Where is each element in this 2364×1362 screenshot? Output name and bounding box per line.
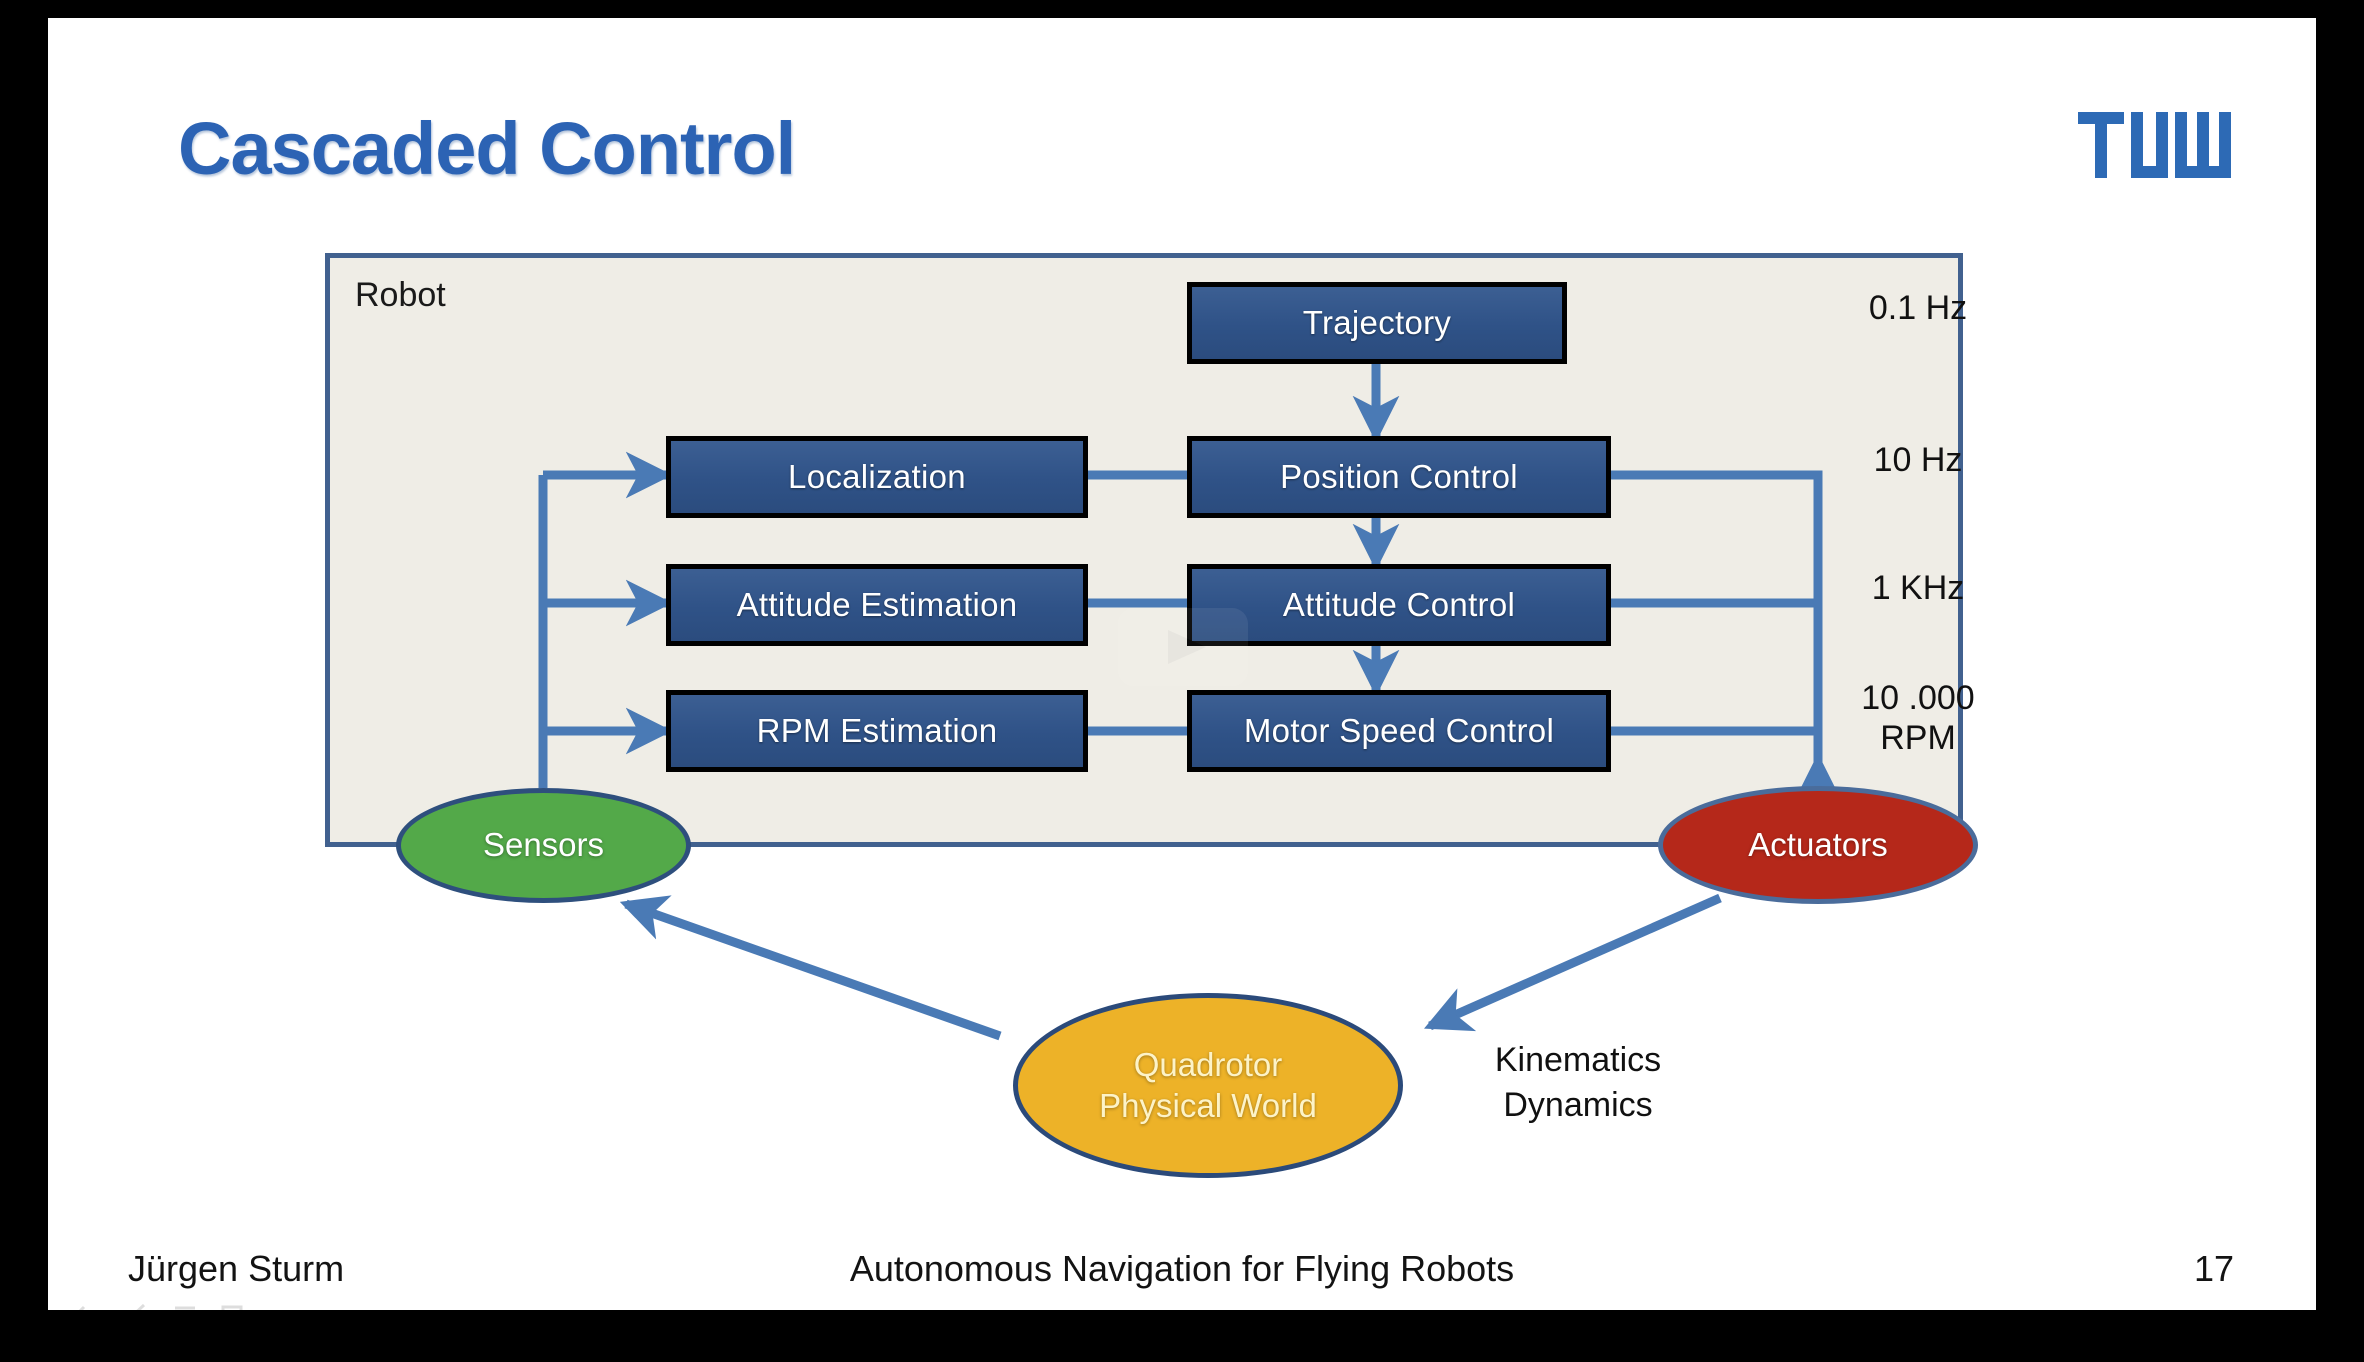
node-label: Position Control — [1280, 458, 1518, 496]
slide-canvas: Cascaded Control Robot — [48, 18, 2316, 1310]
node-label: Quadrotor Physical World — [1099, 1045, 1317, 1126]
play-overlay-ghost-icon — [1118, 608, 1248, 686]
node-label: Actuators — [1748, 825, 1887, 865]
node-label: Localization — [788, 458, 966, 496]
wire-quadrotor-to-sensors — [626, 904, 1000, 1036]
node-sensors[interactable]: Sensors — [396, 788, 691, 903]
pen-icon[interactable] — [124, 1302, 150, 1310]
rate-label-position: 10 Hz — [1818, 440, 2018, 480]
node-label: Attitude Estimation — [737, 586, 1018, 624]
laser-pointer-icon[interactable] — [220, 1302, 246, 1310]
node-label: Trajectory — [1303, 304, 1451, 342]
node-label: Motor Speed Control — [1244, 712, 1554, 750]
node-position-control[interactable]: Position Control — [1187, 436, 1611, 518]
presenter-toolbar[interactable] — [76, 1302, 246, 1310]
node-rpm-estimation[interactable]: RPM Estimation — [666, 690, 1088, 772]
node-actuators[interactable]: Actuators — [1658, 786, 1978, 904]
node-trajectory[interactable]: Trajectory — [1187, 282, 1567, 364]
node-label: RPM Estimation — [757, 712, 998, 750]
tum-logo-icon — [2076, 106, 2252, 184]
node-label: Sensors — [483, 825, 604, 865]
node-localization[interactable]: Localization — [666, 436, 1088, 518]
rate-label-trajectory: 0.1 Hz — [1818, 288, 2018, 328]
footer-course-title: Autonomous Navigation for Flying Robots — [48, 1248, 2316, 1290]
pointer-arrow-icon[interactable] — [76, 1302, 102, 1310]
node-quadrotor-physical-world[interactable]: Quadrotor Physical World — [1013, 993, 1403, 1178]
wire-actuators-to-quadrotor — [1430, 898, 1720, 1026]
robot-container-label: Robot — [355, 276, 446, 315]
rate-label-attitude: 1 KHz — [1818, 568, 2018, 608]
node-label: Attitude Control — [1283, 586, 1515, 624]
node-attitude-estimation[interactable]: Attitude Estimation — [666, 564, 1088, 646]
page-title: Cascaded Control — [178, 106, 795, 191]
node-motor-speed-control[interactable]: Motor Speed Control — [1187, 690, 1611, 772]
node-attitude-control[interactable]: Attitude Control — [1187, 564, 1611, 646]
footer-page-number: 17 — [2194, 1248, 2234, 1290]
rate-label-motor: 10 .000 RPM — [1818, 678, 2018, 758]
kinematics-dynamics-annotation: Kinematics Dynamics — [1448, 1038, 1708, 1128]
slides-grid-icon[interactable] — [172, 1302, 198, 1310]
robot-container: Robot — [325, 253, 1963, 847]
